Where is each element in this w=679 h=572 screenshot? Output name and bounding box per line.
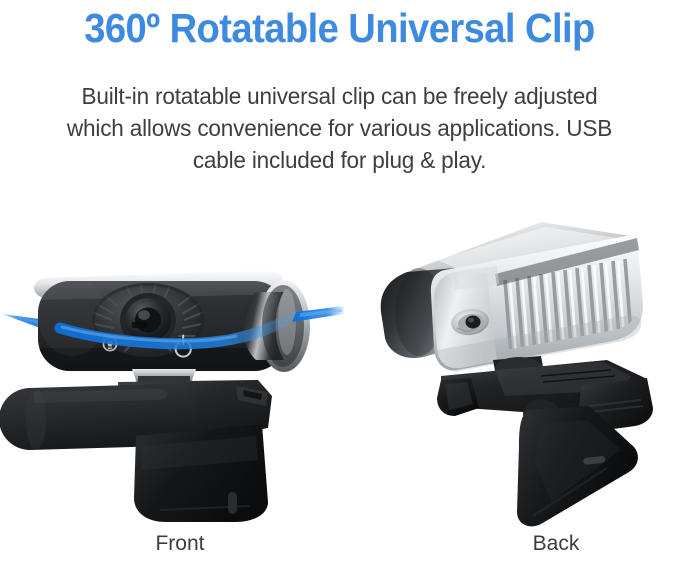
description-line-2: which allows convenience for various app… (35, 112, 645, 144)
universal-clip-back (437, 360, 653, 526)
feature-description: Built-in rotatable universal clip can be… (35, 80, 645, 176)
caption-back: Back (476, 532, 636, 556)
description-line-1: Built-in rotatable universal clip can be… (35, 80, 645, 112)
view-captions: Front Back (0, 532, 679, 566)
camera-body (34, 270, 310, 374)
caption-front: Front (100, 532, 260, 556)
universal-clip (0, 380, 272, 522)
product-front-view (0, 210, 345, 530)
product-feature-panel: 360º Rotatable Universal Clip Built-in r… (0, 0, 679, 572)
description-line-3: cable included for plug & play. (35, 144, 645, 176)
product-image-stage (0, 210, 679, 530)
page-title: 360º Rotatable Universal Clip (24, 2, 655, 54)
camera-body-back (381, 222, 643, 371)
product-back-view (345, 210, 679, 530)
